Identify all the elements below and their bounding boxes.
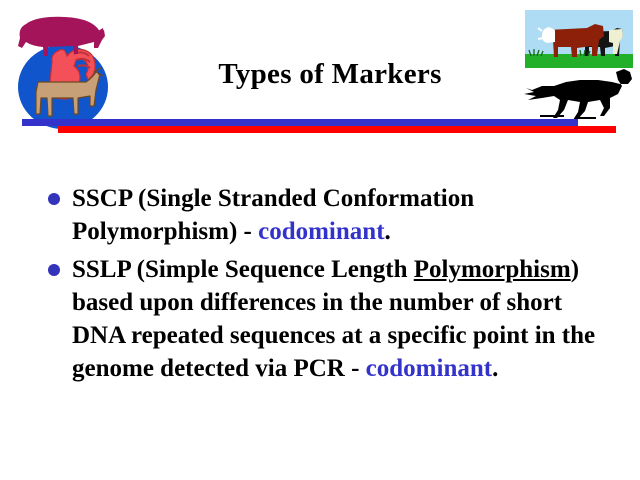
livestock-species-logo-icon	[8, 4, 118, 132]
bullet-segment-text: SSLP (Simple Sequence Length	[72, 256, 414, 283]
slide-header: Types of Markers	[0, 0, 640, 140]
bullet-text-sslp: SSLP (Simple Sequence Length Polymorphis…	[72, 253, 608, 386]
bullet-item-sslp: SSLP (Simple Sequence Length Polymorphis…	[48, 253, 608, 386]
page-title: Types of Markers	[150, 60, 510, 89]
bullet-marker-icon	[48, 264, 60, 276]
bullet-segment-underlined: Polymorphism	[414, 256, 571, 283]
bullet-item-sscp: SSCP (Single Stranded Conformation Polym…	[48, 182, 608, 249]
bullet-segment-text: .	[385, 218, 391, 245]
divider-bar-blue	[22, 119, 578, 126]
bullet-segment-accent: codominant	[366, 355, 492, 382]
slide-body: SSCP (Single Stranded Conformation Polym…	[48, 182, 608, 390]
bullet-segment-accent: codominant	[258, 218, 384, 245]
bullet-text-sscp: SSCP (Single Stranded Conformation Polym…	[72, 182, 608, 249]
divider-bar-red	[58, 126, 616, 133]
cattle-in-pasture-photo	[525, 10, 633, 68]
slide: Types of Markers	[0, 0, 640, 480]
galloping-horse-silhouette-icon	[520, 66, 638, 124]
bullet-marker-icon	[48, 193, 60, 205]
bullet-segment-text: .	[492, 355, 498, 382]
